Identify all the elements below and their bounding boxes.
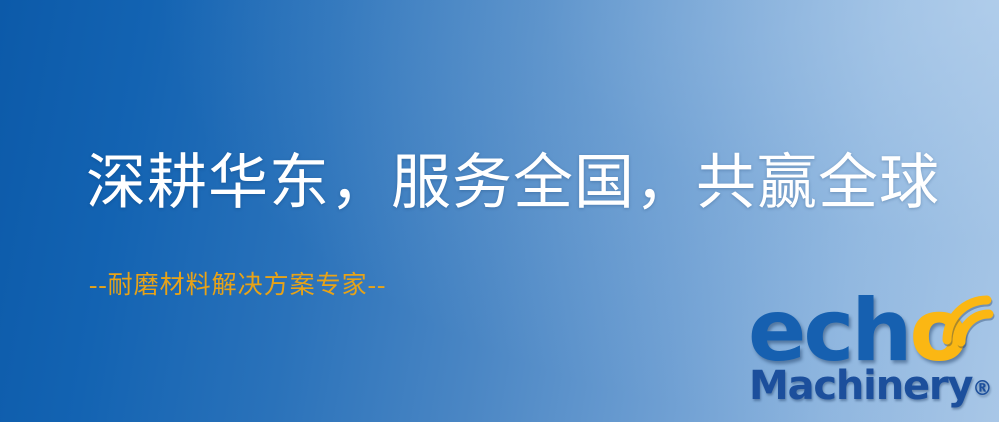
logo-wordmark-wrapper: echo Machinery® — [748, 292, 994, 418]
echo-machinery-logo: echo Machinery® — [748, 292, 994, 418]
registered-trademark-icon: ® — [972, 376, 992, 400]
echo-signal-arcs-icon — [931, 284, 999, 354]
promo-banner: 深耕华东，服务全国，共赢全球 --耐磨材料解决方案专家-- echo Machi… — [0, 0, 999, 422]
banner-subtitle: --耐磨材料解决方案专家-- — [89, 265, 386, 301]
logo-machinery-wordmark: Machinery® — [749, 366, 992, 406]
logo-machinery-text: Machinery — [749, 363, 972, 409]
banner-headline: 深耕华东，服务全国，共赢全球 — [86, 152, 940, 215]
